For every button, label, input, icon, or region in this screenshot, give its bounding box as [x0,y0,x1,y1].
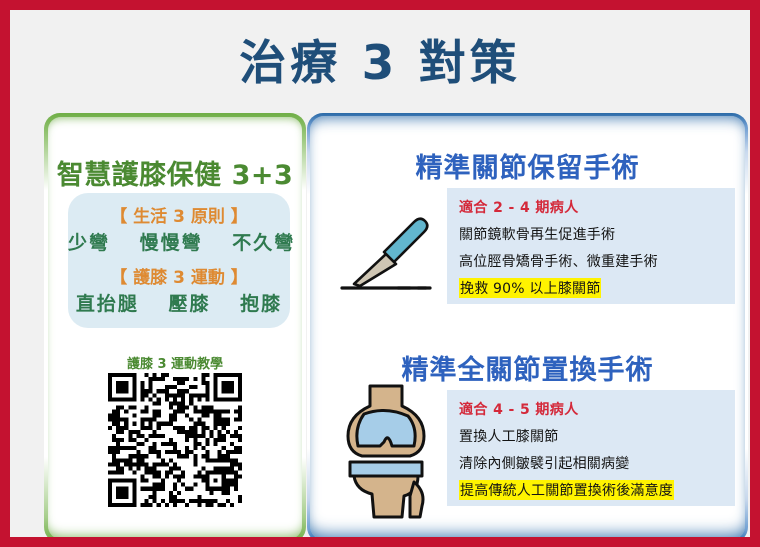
knee-care-panel: 智慧護膝保健 3+3 【 生活 3 原則 】 少彎 慢慢彎 不久彎 【 護膝 3… [44,113,306,537]
joint-preserving-info-box: 適合 2 - 4 期病人 關節鏡軟骨再生促進手術 高位脛骨矯骨手術、微重建手術 … [447,188,735,304]
tips-group-2-items: 直抬腿 壓膝 抱膝 [68,289,290,316]
tips-group-1-items: 少彎 慢慢彎 不久彎 [68,228,290,255]
scalpel-icon [330,194,442,302]
joint-preserving-highlight: 挽救 90% 以上膝關節 [459,278,601,298]
total-joint-replacement-line-2: 清除內側皺襞引起相關病變 [459,453,725,473]
tips-group-2-heading: 【 護膝 3 運動 】 [68,263,290,288]
tips-group-1-heading: 【 生活 3 原則 】 [68,202,290,227]
joint-preserving-line-1: 關節鏡軟骨再生促進手術 [459,224,725,244]
knee-care-tips-box: 【 生活 3 原則 】 少彎 慢慢彎 不久彎 【 護膝 3 運動 】 直抬腿 壓… [68,193,290,328]
total-joint-replacement-info-box: 適合 4 - 5 期病人 置換人工膝關節 清除內側皺襞引起相關病變 提高傳統人工… [447,390,735,506]
surgery-panel: 精準關節保留手術 適合 2 - 4 期病人 關節鏡軟骨再生促進手術 高位脛骨矯骨… [307,113,748,537]
page-title: 治療 3 對策 [10,24,750,93]
surgery-panel-inner: 精準關節保留手術 適合 2 - 4 期病人 關節鏡軟骨再生促進手術 高位脛骨矯骨… [310,116,745,537]
qr-code-label: 護膝 3 運動教學 [48,353,302,372]
joint-preserving-surgery-heading: 精準關節保留手術 [310,146,745,185]
qr-code-icon[interactable] [108,373,242,507]
total-joint-replacement-heading: 精準全關節置換手術 [310,348,745,387]
total-joint-replacement-indication: 適合 4 - 5 期病人 [459,399,725,419]
total-joint-replacement-highlight: 提高傳統人工關節置換術後滿意度 [459,480,674,500]
knee-care-panel-inner: 智慧護膝保健 3+3 【 生活 3 原則 】 少彎 慢慢彎 不久彎 【 護膝 3… [48,117,302,537]
total-joint-replacement-line-1: 置換人工膝關節 [459,426,725,446]
qr-code-canvas[interactable] [108,373,242,507]
knee-joint-icon [334,384,438,519]
joint-preserving-indication: 適合 2 - 4 期病人 [459,197,725,217]
knee-care-heading: 智慧護膝保健 3+3 [48,153,302,192]
poster-root: 治療 3 對策 智慧護膝保健 3+3 【 生活 3 原則 】 少彎 慢慢彎 不久… [10,10,750,537]
joint-preserving-line-2: 高位脛骨矯骨手術、微重建手術 [459,251,725,271]
